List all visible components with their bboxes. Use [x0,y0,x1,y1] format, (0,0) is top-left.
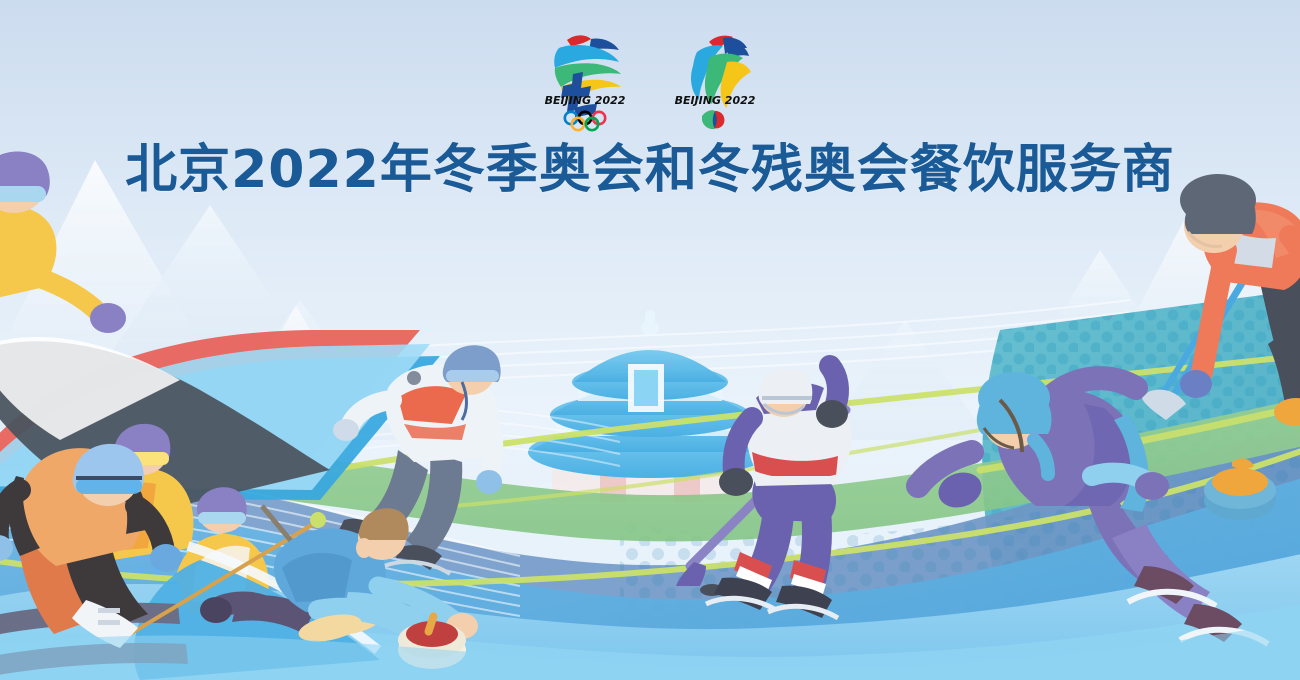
page-title-wrapper: 北京2022年冬季奥会和冬残奥会餐饮服务商 [0,142,1300,198]
beijing-2022-olympic-emblem: BEIJING 2022 [541,30,629,134]
beijing-2022-paralympic-emblem: BEIJING 2022 [671,30,759,134]
page-title: 北京2022年冬季奥会和冬残奥会餐饮服务商 [125,142,1175,198]
agitos-icon [702,110,724,129]
emblem-row: BEIJING 2022 [0,30,1300,140]
beijing-2022-catering-banner: BEIJING 2022 [0,0,1300,680]
olympic-wordmark: BEIJING 2022 [545,94,626,107]
paralympic-wordmark: BEIJING 2022 [675,94,756,107]
